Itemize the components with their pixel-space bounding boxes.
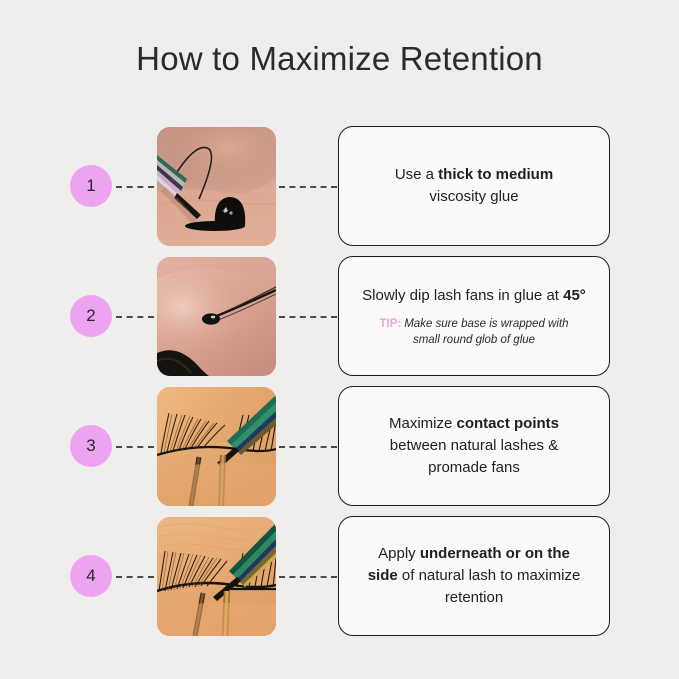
step-text-bold-3: contact points	[457, 415, 560, 432]
step-card-line-3b: between natural lashes &	[390, 435, 558, 457]
step-image-1	[157, 127, 276, 246]
step-row-3: 3	[0, 384, 679, 514]
tip-text-line-1: Make sure base is wrapped with	[404, 318, 568, 330]
step-card-line-1b: viscosity glue	[429, 186, 518, 208]
step-text-bold-4b: side	[368, 567, 398, 584]
step-text-bold-2: 45°	[563, 287, 586, 304]
connector-badge-to-image-3	[116, 446, 154, 448]
connector-badge-to-image-4	[116, 576, 154, 578]
step-card-line-1a: Use a thick to medium	[395, 164, 553, 186]
step-card-line-3c: promade fans	[428, 457, 520, 479]
step-card-2: Slowly dip lash fans in glue at 45° TIP:…	[338, 256, 610, 376]
tip-text-line-2: small round glob of glue	[379, 332, 568, 348]
step-card-line-4a: Apply underneath or on the	[378, 543, 570, 565]
step-text-plain-3: Maximize	[389, 415, 457, 432]
step-card-line-4b: side of natural lash to maximize	[368, 565, 581, 587]
step-card-line-4c: retention	[445, 587, 503, 609]
step-card-line-3a: Maximize contact points	[389, 413, 559, 435]
step-tip-2: TIP:Make sure base is wrapped with small…	[373, 314, 574, 348]
step-card-line-2a: Slowly dip lash fans in glue at 45°	[362, 285, 586, 307]
page-title: How to Maximize Retention	[0, 40, 679, 78]
step-number-badge-4: 4	[70, 555, 112, 597]
step-image-4	[157, 517, 276, 636]
connector-image-to-card-4	[279, 576, 337, 578]
step-row-2: 2	[0, 254, 679, 384]
steps-list: 1	[0, 124, 679, 644]
step-row-1: 1	[0, 124, 679, 254]
step-image-2	[157, 257, 276, 376]
step-card-3: Maximize contact points between natural …	[338, 386, 610, 506]
connector-badge-to-image-2	[116, 316, 154, 318]
tip-label: TIP:	[379, 318, 401, 330]
step-text-plain-2: Slowly dip lash fans in glue at	[362, 287, 563, 304]
step-number-label-2: 2	[86, 306, 95, 326]
step-text-plain-4a: Apply	[378, 545, 420, 562]
step-number-badge-1: 1	[70, 165, 112, 207]
connector-image-to-card-1	[279, 186, 337, 188]
connector-image-to-card-2	[279, 316, 337, 318]
connector-image-to-card-3	[279, 446, 337, 448]
step-number-label-1: 1	[86, 176, 95, 196]
step-card-4: Apply underneath or on the side of natur…	[338, 516, 610, 636]
infographic-root: How to Maximize Retention 1	[0, 0, 679, 679]
step-number-label-3: 3	[86, 436, 95, 456]
step-text-bold-1: thick to medium	[438, 166, 553, 183]
step-number-badge-2: 2	[70, 295, 112, 337]
step-card-1: Use a thick to medium viscosity glue	[338, 126, 610, 246]
step-image-3	[157, 387, 276, 506]
step-text-plain-4b: of natural lash to maximize	[398, 567, 581, 584]
step-number-label-4: 4	[86, 566, 95, 586]
step-text-bold-4a: underneath or on the	[420, 545, 570, 562]
step-row-4: 4	[0, 514, 679, 644]
tip-first-row: TIP:Make sure base is wrapped with	[379, 314, 568, 332]
connector-badge-to-image-1	[116, 186, 154, 188]
step-number-badge-3: 3	[70, 425, 112, 467]
step-text-plain-1: Use a	[395, 166, 438, 183]
